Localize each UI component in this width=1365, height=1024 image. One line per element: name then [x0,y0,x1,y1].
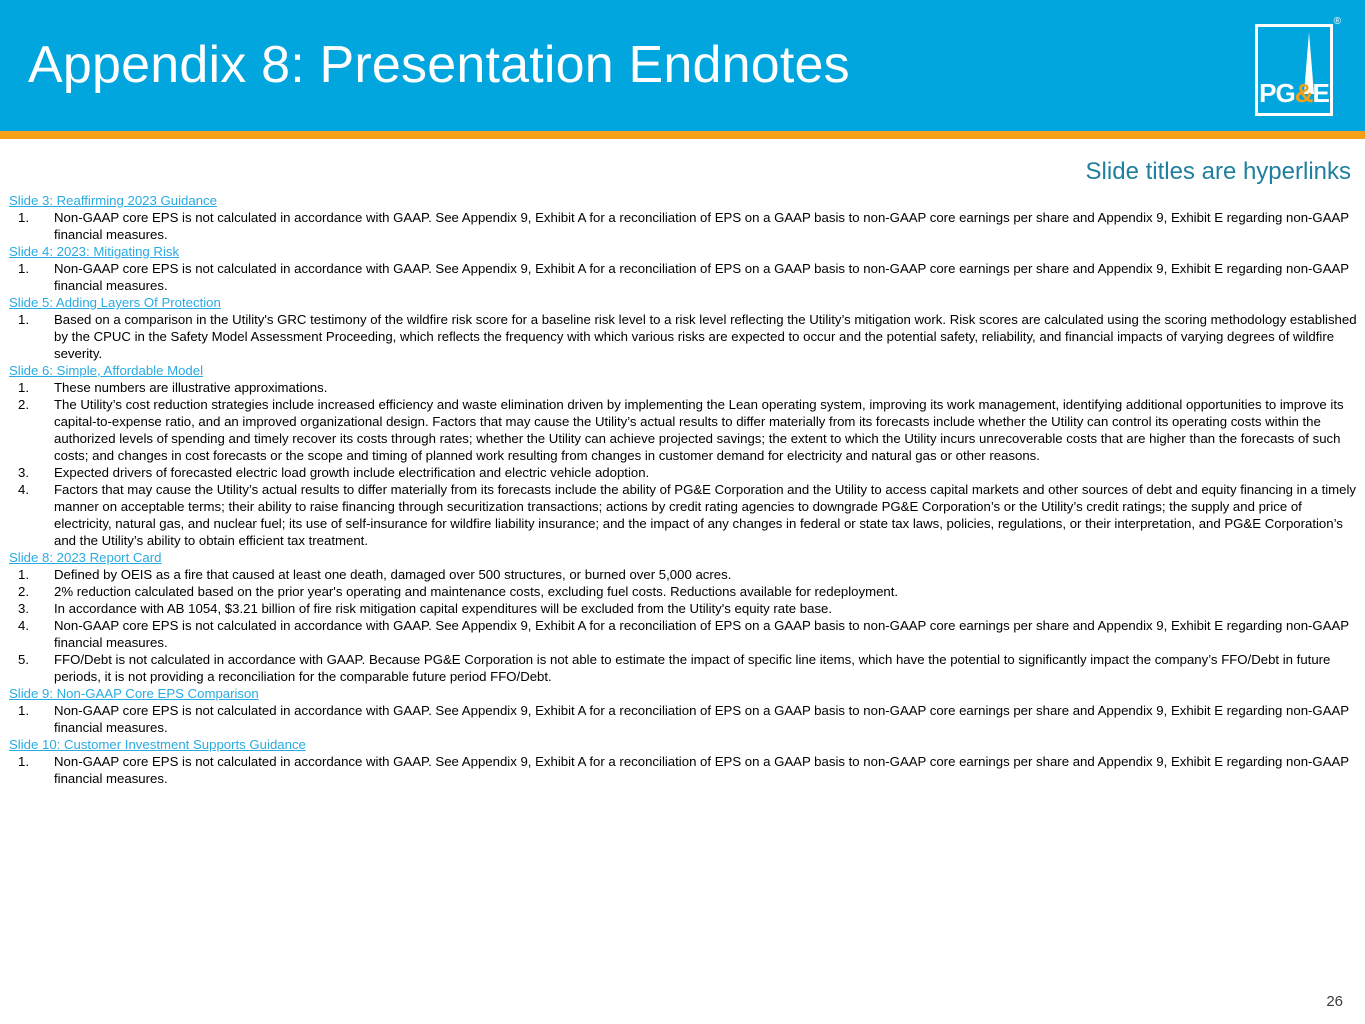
page-title: Appendix 8: Presentation Endnotes [28,34,850,96]
logo-e-text: E [1313,78,1329,108]
endnote-item: 2% reduction calculated based on the pri… [9,583,1359,600]
endnote-item: Expected drivers of forecasted electric … [9,464,1359,481]
endnote-item: Non-GAAP core EPS is not calculated in a… [9,209,1359,243]
slide-title-link[interactable]: Slide 5: Adding Layers Of Protection [9,294,221,311]
slide-title-link[interactable]: Slide 10: Customer Investment Supports G… [9,736,306,753]
endnote-item: Non-GAAP core EPS is not calculated in a… [9,702,1359,736]
endnote-item: These numbers are illustrative approxima… [9,379,1359,396]
endnote-list: Non-GAAP core EPS is not calculated in a… [9,260,1359,294]
logo-wordmark: PG&E [1258,80,1330,106]
slide-title-link[interactable]: Slide 9: Non-GAAP Core EPS Comparison [9,685,259,702]
endnote-list: Non-GAAP core EPS is not calculated in a… [9,702,1359,736]
endnote-item: The Utility’s cost reduction strategies … [9,396,1359,464]
pge-logo: ® PG&E [1255,16,1339,116]
hyperlink-note: Slide titles are hyperlinks [1086,158,1351,186]
endnotes-container: Slide 3: Reaffirming 2023 GuidanceNon-GA… [9,192,1359,787]
endnote-list: These numbers are illustrative approxima… [9,379,1359,549]
endnote-list: Non-GAAP core EPS is not calculated in a… [9,753,1359,787]
logo-pg-text: PG [1259,78,1295,108]
endnote-list: Non-GAAP core EPS is not calculated in a… [9,209,1359,243]
logo-frame: PG&E [1255,24,1333,116]
slide-title-link[interactable]: Slide 4: 2023: Mitigating Risk [9,243,179,260]
registered-trademark-icon: ® [1334,16,1341,27]
endnote-item: Non-GAAP core EPS is not calculated in a… [9,260,1359,294]
slide-header-bar: Appendix 8: Presentation Endnotes ® PG&E [0,0,1365,131]
slide-title-link[interactable]: Slide 3: Reaffirming 2023 Guidance [9,192,217,209]
slide-title-link[interactable]: Slide 6: Simple, Affordable Model [9,362,203,379]
endnote-item: Factors that may cause the Utility’s act… [9,481,1359,549]
header-orange-divider [0,131,1365,139]
endnote-list: Based on a comparison in the Utility's G… [9,311,1359,362]
slide-title-link[interactable]: Slide 8: 2023 Report Card [9,549,161,566]
endnote-list: Defined by OEIS as a fire that caused at… [9,566,1359,685]
endnote-item: In accordance with AB 1054, $3.21 billio… [9,600,1359,617]
endnote-item: Defined by OEIS as a fire that caused at… [9,566,1359,583]
endnote-item: Non-GAAP core EPS is not calculated in a… [9,753,1359,787]
page-number: 26 [1326,993,1343,1010]
logo-ampersand: & [1295,78,1313,108]
endnote-item: Based on a comparison in the Utility's G… [9,311,1359,362]
endnote-item: Non-GAAP core EPS is not calculated in a… [9,617,1359,651]
endnote-item: FFO/Debt is not calculated in accordance… [9,651,1359,685]
